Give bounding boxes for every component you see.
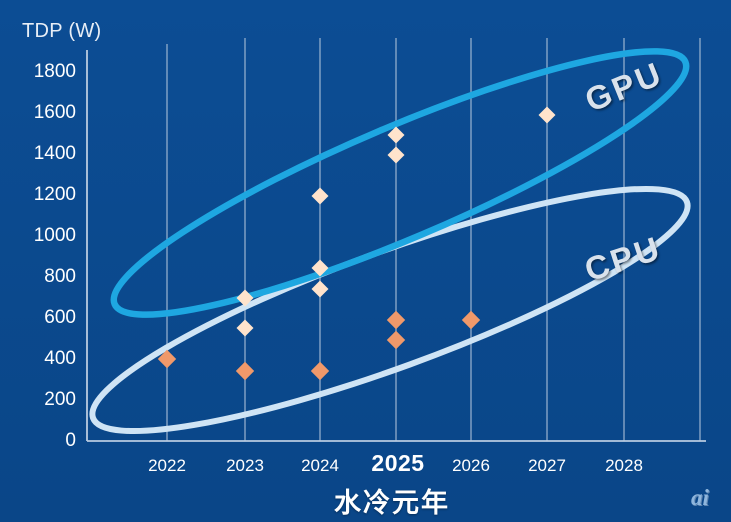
y-tick-200: 200 — [10, 389, 76, 411]
water-cooling-annotation: 水冷元年 — [334, 481, 450, 520]
y-tick-1600: 1600 — [10, 102, 76, 124]
y-tick-1000: 1000 — [10, 225, 76, 247]
y-tick-600: 600 — [10, 307, 76, 329]
cpu-data-points — [158, 311, 480, 380]
x-tick-2025: 2025 — [371, 450, 424, 477]
x-tick-2022: 2022 — [148, 456, 186, 476]
y-tick-800: 800 — [10, 266, 76, 288]
x-tick-2024: 2024 — [301, 456, 339, 476]
data-point — [236, 362, 254, 380]
x-tick-2028: 2028 — [605, 456, 643, 476]
y-tick-0: 0 — [10, 430, 76, 452]
y-tick-400: 400 — [10, 348, 76, 370]
data-point — [387, 311, 405, 329]
y-tick-1400: 1400 — [10, 143, 76, 165]
data-point — [312, 188, 329, 205]
y-tick-1800: 1800 — [10, 61, 76, 83]
data-point — [539, 107, 556, 124]
data-point — [387, 331, 405, 349]
chart-canvas: TDP (W) — [0, 0, 731, 522]
data-point — [388, 147, 405, 164]
data-point — [312, 281, 329, 298]
x-tick-2023: 2023 — [226, 456, 264, 476]
x-tick-2026: 2026 — [452, 456, 490, 476]
data-point — [462, 311, 480, 329]
data-point — [237, 320, 254, 337]
y-tick-1200: 1200 — [10, 184, 76, 206]
publisher-logo: ai — [681, 484, 719, 512]
data-point — [311, 362, 329, 380]
gpu-band — [93, 10, 707, 355]
x-tick-2027: 2027 — [528, 456, 566, 476]
